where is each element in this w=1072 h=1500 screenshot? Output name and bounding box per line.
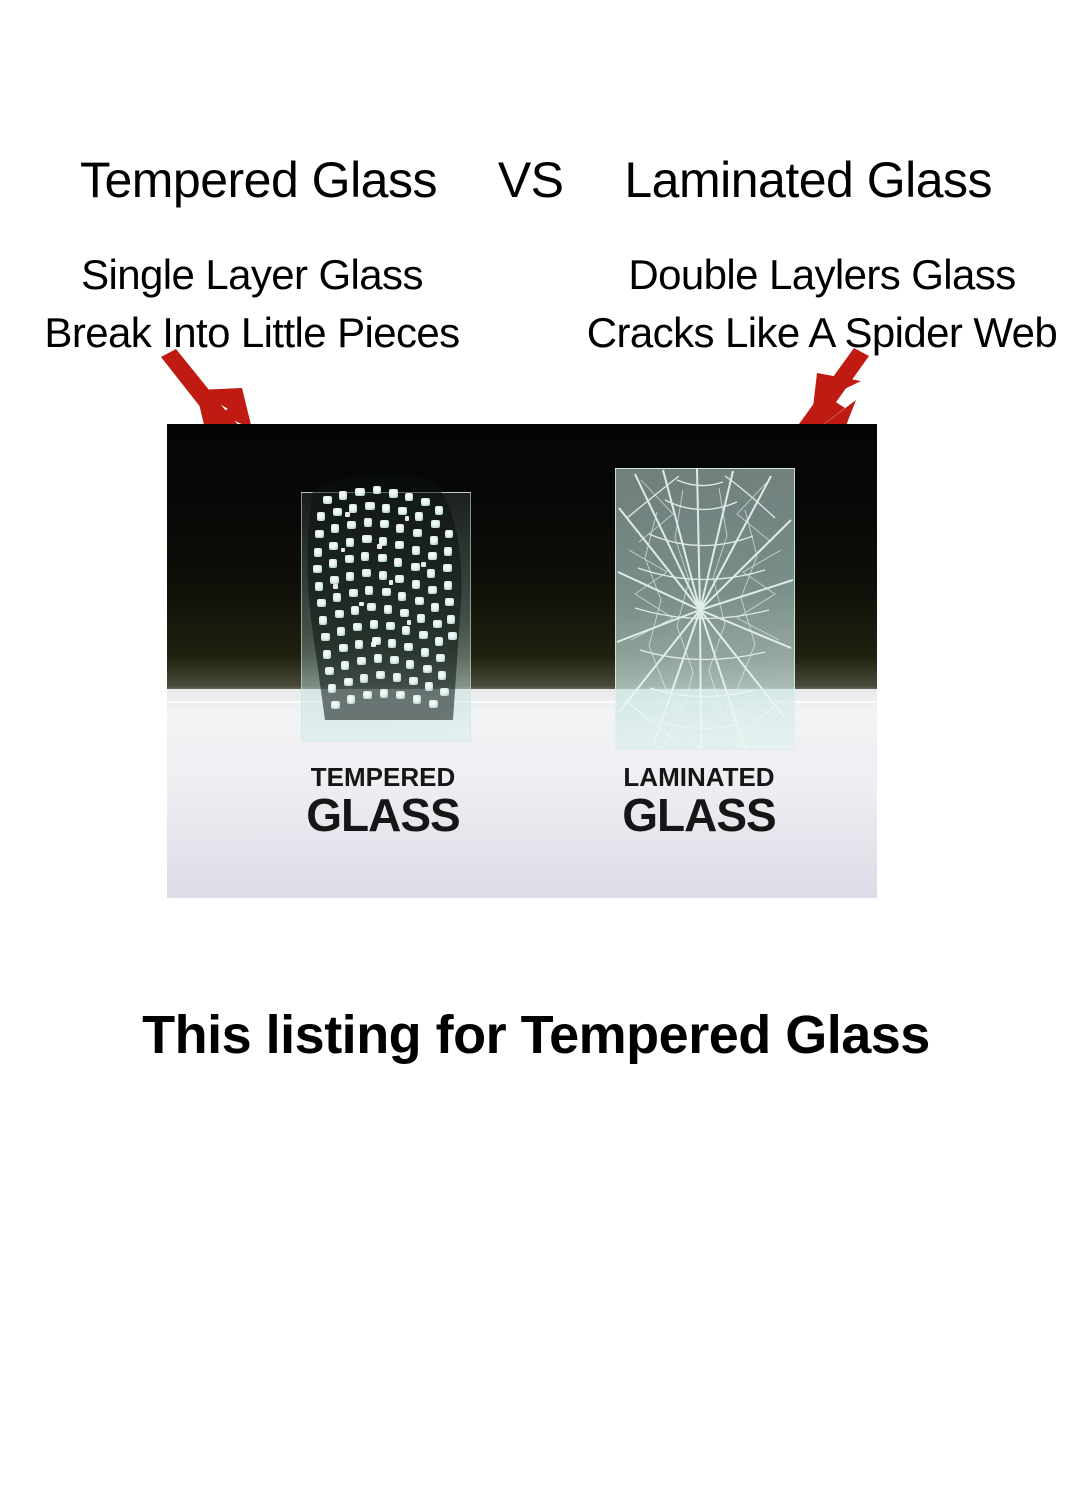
tempered-descriptor-line-1: Single Layer Glass	[0, 246, 520, 304]
laminated-crack-web	[605, 460, 805, 750]
descriptor-row: Single Layer Glass Break Into Little Pie…	[0, 246, 1072, 362]
headline-right-label: Laminated Glass	[624, 152, 992, 208]
tempered-shard-pattern	[285, 452, 475, 742]
laminated-descriptor-line-2: Cracks Like A Spider Web	[554, 304, 1072, 362]
headline-separator-label: VS	[498, 152, 564, 208]
photo-caption-laminated: LAMINATED GLASS	[529, 764, 869, 838]
tempered-glass-sample	[285, 452, 475, 742]
comparison-photo: TEMPERED GLASS LAMINATED GLASS	[167, 424, 877, 898]
laminated-descriptor-line-1: Double Laylers Glass	[554, 246, 1072, 304]
photo-caption-tempered-small: TEMPERED	[213, 764, 553, 790]
photo-caption-laminated-big: GLASS	[529, 792, 869, 838]
photo-caption-laminated-small: LAMINATED	[529, 764, 869, 790]
listing-note: This listing for Tempered Glass	[0, 1002, 1072, 1068]
headline: Tempered Glass VS Laminated Glass	[0, 150, 1072, 210]
descriptor-column-laminated: Double Laylers Glass Cracks Like A Spide…	[554, 246, 1072, 362]
headline-left-label: Tempered Glass	[80, 152, 437, 208]
laminated-glass-sample	[605, 460, 805, 750]
descriptor-column-tempered: Single Layer Glass Break Into Little Pie…	[0, 246, 520, 362]
tempered-descriptor-line-2: Break Into Little Pieces	[0, 304, 520, 362]
photo-caption-tempered: TEMPERED GLASS	[213, 764, 553, 838]
photo-caption-tempered-big: GLASS	[213, 792, 553, 838]
